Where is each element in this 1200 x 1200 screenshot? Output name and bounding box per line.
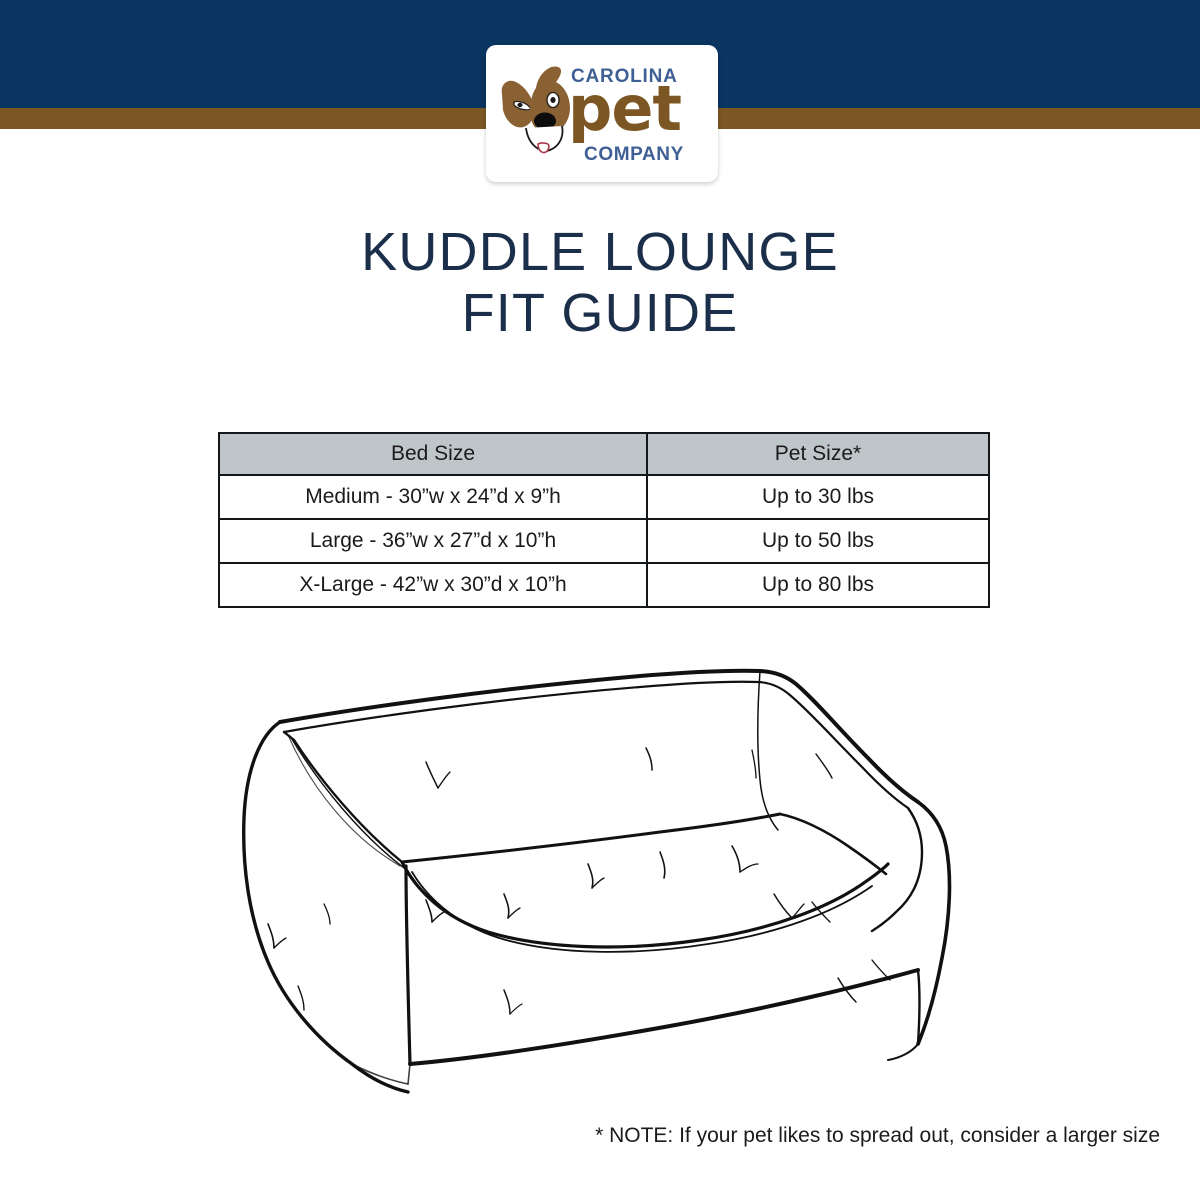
brand-line-pet: pet <box>568 78 681 140</box>
brand-wordmark: CAROLINA pet COMPANY <box>570 60 710 168</box>
dog-cat-head-icon <box>498 64 576 160</box>
column-header-bed-size: Bed Size <box>219 433 647 475</box>
table-row: X-Large - 42”w x 30”d x 10”h Up to 80 lb… <box>219 563 989 607</box>
brand-logo-card[interactable]: CAROLINA pet COMPANY <box>486 45 718 182</box>
fit-guide-table-head: Bed Size Pet Size* <box>219 433 989 475</box>
column-header-pet-size: Pet Size* <box>647 433 989 475</box>
cell-pet-size: Up to 50 lbs <box>647 519 989 563</box>
cell-pet-size: Up to 80 lbs <box>647 563 989 607</box>
fit-guide-table: Bed Size Pet Size* Medium - 30”w x 24”d … <box>218 432 990 608</box>
brand-line-company: COMPANY <box>584 144 684 166</box>
table-row: Large - 36”w x 27”d x 10”h Up to 50 lbs <box>219 519 989 563</box>
footer-note: * NOTE: If your pet likes to spread out,… <box>0 1124 1160 1148</box>
page-title-line-2: FIT GUIDE <box>0 283 1200 344</box>
page-title-line-1: KUDDLE LOUNGE <box>0 222 1200 283</box>
cell-bed-size: X-Large - 42”w x 30”d x 10”h <box>219 563 647 607</box>
dog-bed-illustration <box>240 640 970 1100</box>
table-header-row: Bed Size Pet Size* <box>219 433 989 475</box>
page-title: KUDDLE LOUNGE FIT GUIDE <box>0 222 1200 344</box>
cell-bed-size: Medium - 30”w x 24”d x 9”h <box>219 475 647 519</box>
cell-pet-size: Up to 30 lbs <box>647 475 989 519</box>
brand-logo-inner: CAROLINA pet COMPANY <box>496 58 708 170</box>
table-row: Medium - 30”w x 24”d x 9”h Up to 30 lbs <box>219 475 989 519</box>
fit-guide-table-body: Medium - 30”w x 24”d x 9”h Up to 30 lbs … <box>219 475 989 607</box>
cell-bed-size: Large - 36”w x 27”d x 10”h <box>219 519 647 563</box>
